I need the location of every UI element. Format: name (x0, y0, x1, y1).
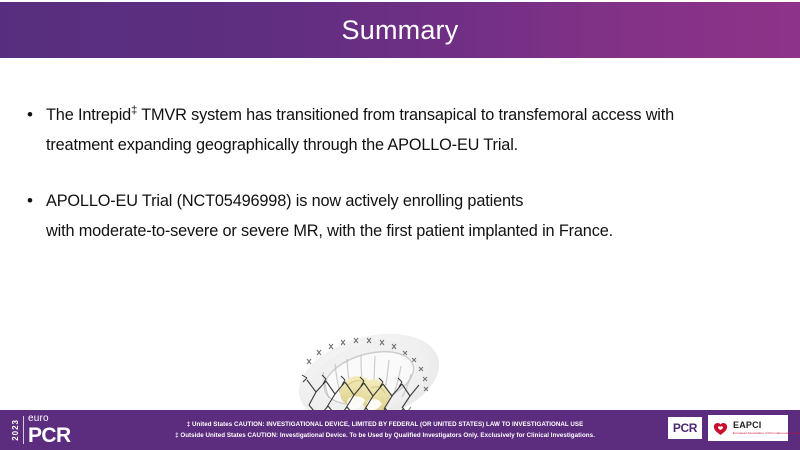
europcr-logo-words: euro PCR (28, 414, 71, 446)
eapci-logo-name: EAPCI (733, 421, 800, 430)
slide-content: • The Intrepid‡ TMVR system has transiti… (0, 58, 800, 410)
europcr-logo-pcr: PCR (28, 425, 71, 446)
eapci-logo-subtitle: European Association of Percutaneous Car… (733, 432, 800, 435)
heart-icon (712, 420, 729, 437)
eapci-logo-text: EAPCI European Association of Percutaneo… (733, 421, 800, 435)
caution-line-us: ‡ United States CAUTION: INVESTIGATIONAL… (187, 419, 584, 430)
slide-title-bar: Summary (0, 2, 800, 58)
bullet-marker-icon: • (24, 100, 46, 130)
pcr-logo-label: PCR (673, 421, 697, 435)
bullet-text: The Intrepid‡ TMVR system has transition… (46, 100, 780, 160)
eapci-logo: EAPCI European Association of Percutaneo… (708, 415, 788, 441)
page-title: Summary (342, 17, 459, 44)
bullet-line: APOLLO-EU Trial (NCT05496998) is now act… (46, 186, 780, 216)
logo-divider (23, 416, 24, 444)
caution-statement: ‡ United States CAUTION: INVESTIGATIONAL… (110, 413, 660, 447)
caution-line-outside-us: ‡ Outside United States CAUTION: Investi… (175, 430, 595, 441)
europcr-logo-euro: euro (28, 414, 71, 424)
bullet-marker-icon: • (24, 186, 46, 216)
list-item: • The Intrepid‡ TMVR system has transiti… (24, 100, 780, 160)
pcr-logo: PCR (668, 417, 702, 439)
europcr-logo: 2023 euro PCR (12, 411, 90, 449)
bullet-line: treatment expanding geographically throu… (46, 130, 780, 160)
bullet-list: • The Intrepid‡ TMVR system has transiti… (24, 100, 780, 272)
europcr-logo-year: 2023 (12, 419, 20, 441)
bullet-line: The Intrepid‡ TMVR system has transition… (46, 100, 780, 130)
list-item: • APOLLO-EU Trial (NCT05496998) is now a… (24, 186, 780, 246)
bullet-text: APOLLO-EU Trial (NCT05496998) is now act… (46, 186, 780, 246)
bullet-line: with moderate-to-severe or severe MR, wi… (46, 216, 780, 246)
